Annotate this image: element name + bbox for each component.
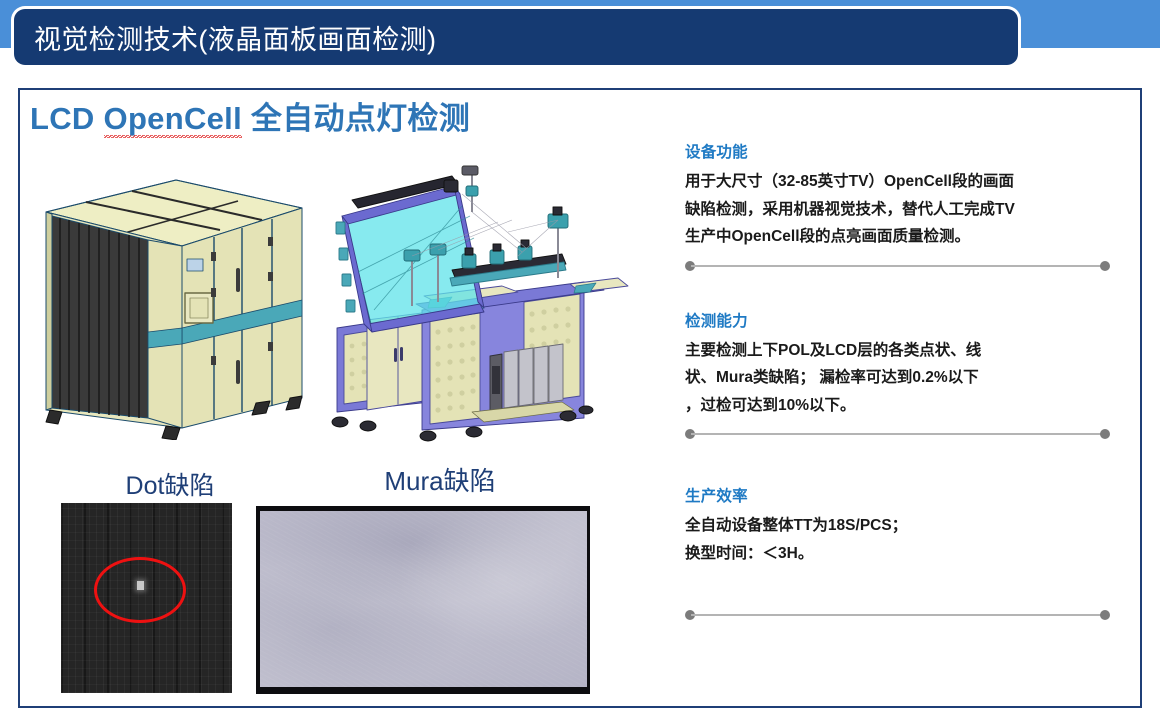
dot-defect-photo [61, 503, 232, 693]
info-body: 主要检测上下POL及LCD层的各类点状、线 状、Mura类缺陷； 漏检率可达到0… [685, 337, 1110, 420]
info-column: 设备功能 用于大尺寸（32-85英寸TV）OpenCell段的画面 缺陷检测，采… [685, 140, 1110, 620]
info-line: 生产中OpenCell段的点亮画面质量检测。 [685, 223, 1110, 251]
info-line: 主要检测上下POL及LCD层的各类点状、线 [685, 337, 1110, 365]
info-line: 状、Mura类缺陷； 漏检率可达到0.2%以下 [685, 364, 1110, 392]
info-block-detection-capability: 检测能力 主要检测上下POL及LCD层的各类点状、线 状、Mura类缺陷； 漏检… [685, 309, 1110, 440]
section-divider [685, 429, 1110, 439]
slide-heading-suffix: 全自动点灯检测 [242, 101, 470, 136]
info-block-production-efficiency: 生产效率 全自动设备整体TT为18S/PCS； 换型时间：＜3H。 [685, 484, 1110, 619]
info-line: 换型时间：＜3H。 [685, 540, 1110, 568]
slide-heading: LCD OpenCell 全自动点灯检测 [30, 93, 470, 138]
dot-defect-caption: Dot缺陷 [95, 466, 245, 502]
divider-dot-right [1100, 429, 1110, 439]
mura-defect-photo [256, 506, 590, 694]
info-heading: 生产效率 [685, 484, 1110, 506]
slide-heading-term: OpenCell [104, 101, 242, 138]
info-body: 用于大尺寸（32-85英寸TV）OpenCell段的画面 缺陷检测，采用机器视觉… [685, 168, 1110, 251]
divider-dot-right [1100, 610, 1110, 620]
section-divider [685, 261, 1110, 271]
mura-defect-texture [260, 511, 587, 687]
header-title-banner: 视觉检测技术(液晶面板画面检测) [14, 9, 1018, 65]
red-ellipse-annotation [94, 557, 186, 623]
info-block-equipment-function: 设备功能 用于大尺寸（32-85英寸TV）OpenCell段的画面 缺陷检测，采… [685, 140, 1110, 271]
info-line: 缺陷检测，采用机器视觉技术，替代人工完成TV [685, 196, 1110, 224]
section-divider [685, 610, 1110, 620]
info-heading: 设备功能 [685, 140, 1110, 162]
cabinet-illustration [24, 160, 324, 440]
divider-line [691, 433, 1104, 435]
divider-dot-right [1100, 261, 1110, 271]
slide-heading-prefix: LCD [30, 101, 104, 136]
info-line: 用于大尺寸（32-85英寸TV）OpenCell段的画面 [685, 168, 1110, 196]
info-heading: 检测能力 [685, 309, 1110, 331]
divider-line [691, 265, 1104, 267]
info-body: 全自动设备整体TT为18S/PCS； 换型时间：＜3H。 [685, 512, 1110, 567]
divider-line [691, 614, 1104, 616]
mura-defect-caption: Mura缺陷 [360, 461, 520, 498]
info-line: 全自动设备整体TT为18S/PCS； [685, 512, 1110, 540]
machine-illustration [312, 160, 634, 442]
header-title: 视觉检测技术(液晶面板画面检测) [14, 18, 436, 57]
info-line: ，过检可达到10%以下。 [685, 392, 1110, 420]
mura-defect-surface [260, 511, 587, 687]
